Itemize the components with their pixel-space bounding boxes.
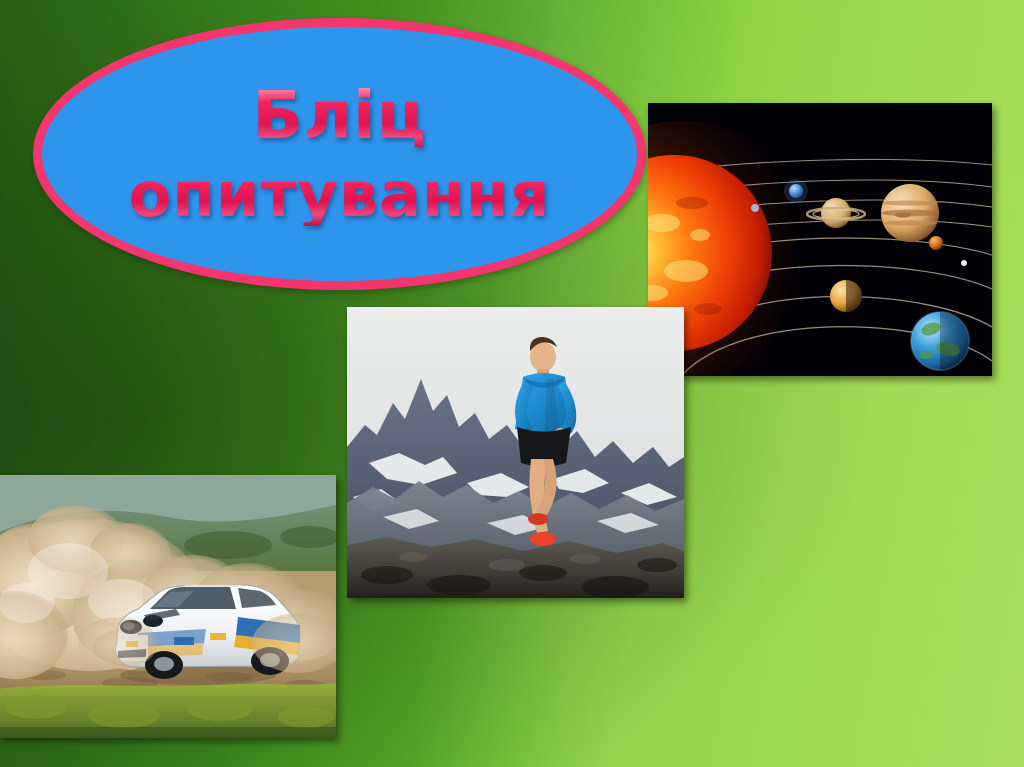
title-line-1: Бліц [252,82,426,149]
slide-canvas: Бліц опитування [0,0,1024,767]
title-ellipse-shape[interactable]: Бліц опитування [33,18,646,290]
solar-system-illustration [648,103,992,376]
title-line-2: опитування [129,163,551,226]
mountain-runner-illustration [347,307,684,598]
rally-car-illustration [0,475,336,738]
solar-system-photo[interactable] [648,103,992,376]
mountain-runner-photo[interactable] [347,307,684,598]
rally-car-photo[interactable] [0,475,336,738]
